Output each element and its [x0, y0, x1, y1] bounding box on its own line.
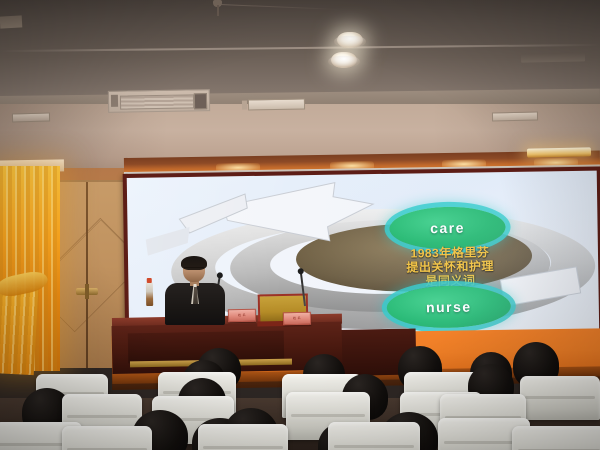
- audience-chair: [328, 422, 420, 450]
- wall-outlet-plate-right: [492, 112, 538, 122]
- slide-center-text: 1983年格里芬 提出关怀和护理 是同义词: [364, 245, 537, 290]
- audience-chair: [512, 426, 600, 450]
- nurse-bubble-label: nurse: [426, 299, 472, 316]
- conference-hall-photo: care 1983年格里芬 提出关怀和护理 是同义词 nurse 姓 名 姓 名: [0, 0, 600, 450]
- sprinkler-icon: [213, 0, 222, 16]
- ceiling-wire: [220, 4, 340, 10]
- seated-audience: [0, 330, 600, 450]
- downlight-icon-1: [337, 32, 363, 48]
- name-card-right: 姓 名: [283, 312, 311, 326]
- downlight-icon-2: [331, 52, 357, 68]
- glasses-icon: [184, 267, 204, 273]
- door-handle-icon[interactable]: [76, 288, 98, 295]
- recessed-ceiling-panel-left: [0, 15, 22, 28]
- care-bubble-label: care: [430, 220, 465, 237]
- recessed-ceiling-panel: [521, 52, 585, 62]
- ceiling-seam: [0, 44, 600, 52]
- ceiling: [0, 0, 600, 104]
- name-card-left: 姓 名: [228, 309, 256, 323]
- ceiling-air-vent: [108, 89, 210, 113]
- water-bottle[interactable]: [146, 282, 153, 306]
- audience-chair: [520, 376, 600, 420]
- audience-chair: [198, 424, 288, 450]
- wall-sconce: [527, 147, 591, 157]
- presenter: [163, 258, 227, 322]
- wall-outlet-plate-left: [12, 113, 50, 123]
- audience-chair: [62, 426, 152, 450]
- wall-speaker-plate: [248, 99, 305, 111]
